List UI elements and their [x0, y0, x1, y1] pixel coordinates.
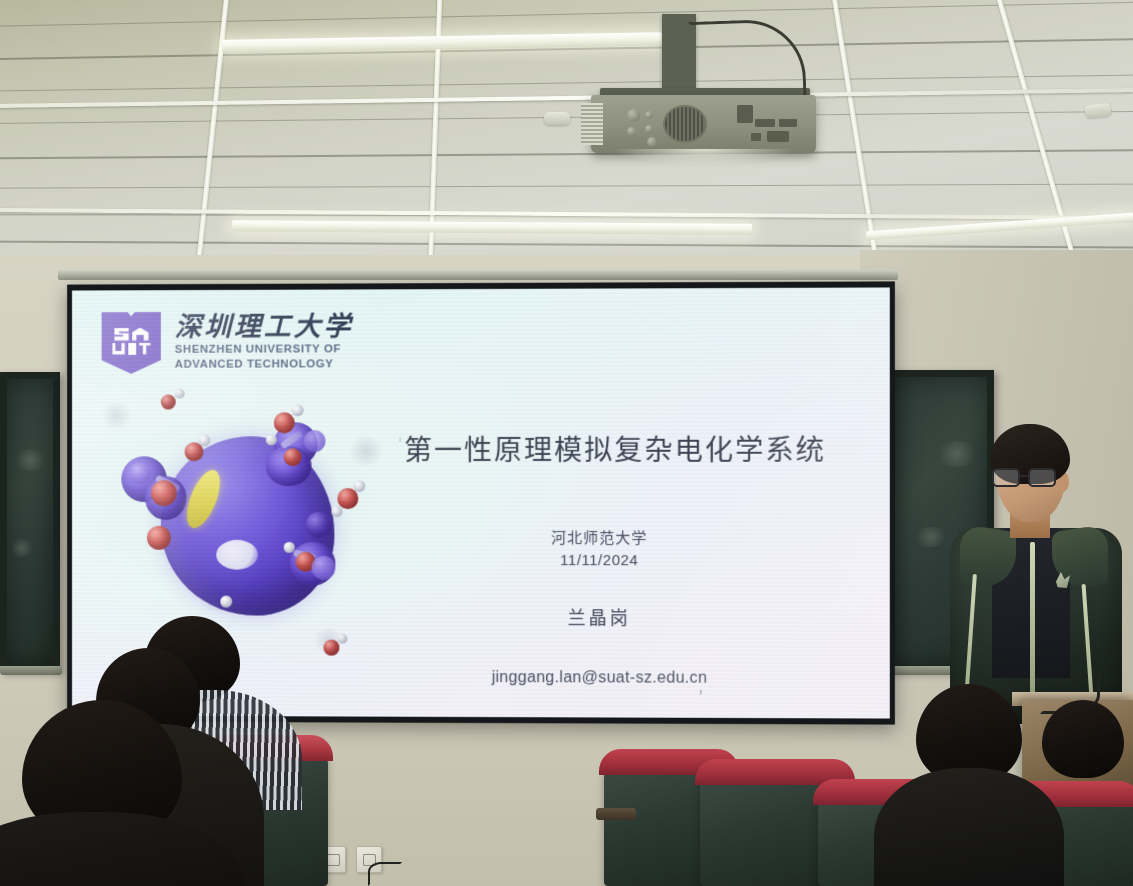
slide-affiliation: 河北师范大学	[369, 527, 831, 548]
projector-button	[645, 125, 653, 133]
left-chalkboard	[0, 372, 60, 672]
fluorescent-tube-light	[232, 220, 752, 235]
logo-chinese-name: 深圳理工大学	[175, 314, 354, 341]
oxygen-atom	[161, 395, 176, 410]
audience-member-right-shoulders	[874, 768, 1064, 886]
solvent-shell-atom	[312, 556, 336, 580]
eyeglasses-icon	[992, 468, 1066, 487]
hydrogen-atom	[266, 434, 277, 445]
projector-port	[737, 105, 753, 123]
projector-fan-grille	[663, 105, 707, 143]
hydrogen-atom	[198, 434, 210, 446]
projector	[591, 95, 816, 153]
solvent-shell-atom	[129, 462, 151, 484]
logo-english-line2: ADVANCED TECHNOLOGY	[175, 357, 354, 372]
projector-button	[645, 111, 653, 119]
oxygen-atom	[274, 412, 295, 433]
slide-speaker: 兰晶岗	[369, 604, 831, 631]
logo-english-line1: SHENZHEN UNIVERSITY OF	[175, 342, 354, 357]
smoke-detector	[1084, 103, 1111, 119]
oxygen-atom	[151, 480, 177, 506]
electron-density-isosurface-figure	[100, 384, 398, 674]
oxygen-atom	[284, 448, 302, 466]
projector-dial	[627, 109, 640, 122]
slide-date: 11/11/2024	[369, 552, 831, 569]
projector-indicator	[647, 137, 657, 147]
projector-dial	[627, 127, 636, 136]
slide-title: 第一性原理模拟复杂电化学系统	[369, 429, 861, 470]
audience-member-far-right	[1042, 700, 1124, 778]
university-logo: 深圳理工大学 SHENZHEN UNIVERSITY OF ADVANCED T…	[102, 311, 354, 373]
lecture-hall-photo: 深圳理工大学 SHENZHEN UNIVERSITY OF ADVANCED T…	[0, 0, 1133, 886]
outlet-cable	[368, 862, 402, 886]
slide-email: jinggang.lan@suat-sz.edu.cn	[349, 669, 851, 689]
hydrogen-atom	[175, 389, 185, 399]
smoke-detector	[544, 112, 570, 125]
oxygen-atom	[323, 640, 339, 656]
oxygen-atom	[337, 488, 358, 509]
hydrogen-atom	[331, 506, 342, 517]
hydrogen-atom	[337, 634, 347, 644]
left-chalk-tray	[0, 666, 62, 675]
oxygen-atom	[147, 526, 171, 550]
projector-vent	[581, 103, 603, 145]
screen-mount-bar	[58, 270, 898, 280]
solvent-shell-atom	[304, 430, 326, 452]
hydrogen-atom	[284, 542, 295, 553]
projector-port	[755, 119, 775, 127]
hydrogen-atom	[353, 480, 365, 492]
projector-lens-glow	[611, 149, 796, 165]
hydrogen-cluster	[216, 540, 258, 570]
hydrogen-atom	[292, 404, 304, 416]
projector-port	[767, 131, 789, 142]
seat-armrest	[596, 808, 636, 820]
hydrogen-atom	[220, 596, 232, 608]
projector-port	[751, 133, 761, 141]
suat-shield-icon	[102, 312, 161, 374]
projector-port	[779, 119, 797, 127]
